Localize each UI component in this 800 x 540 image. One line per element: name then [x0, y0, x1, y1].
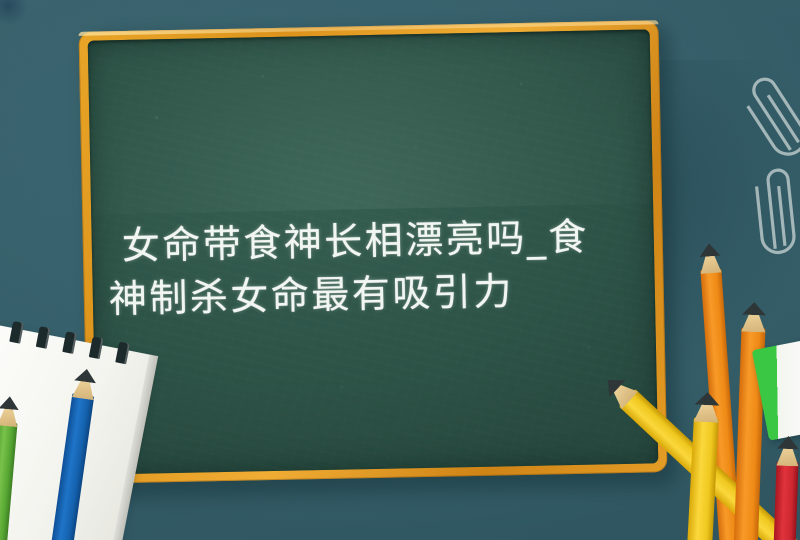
- spiral-ring: [62, 331, 77, 354]
- pencil-lead: [742, 302, 766, 316]
- spiral-ring: [115, 342, 130, 365]
- pencil-lead: [699, 243, 721, 257]
- red-pencil: [773, 436, 800, 540]
- chalk-line-2: 神制杀女命最有吸引力: [108, 263, 643, 327]
- chalkboard-title: 女命带食神长相漂亮吗_食神制杀女命最有吸引力: [121, 210, 643, 326]
- chalk-line-1: 女命带食神长相漂亮吗_食: [121, 215, 589, 268]
- spiral-ring: [89, 336, 104, 359]
- spiral-ring: [9, 321, 24, 344]
- pencil-lead: [777, 436, 799, 450]
- pencil-lead: [74, 367, 98, 383]
- scene-root: 女命带食神长相漂亮吗_食神制杀女命最有吸引力: [0, 0, 800, 540]
- chalkboard: 女命带食神长相漂亮吗_食神制杀女命最有吸引力: [79, 20, 668, 484]
- chalkboard-surface: 女命带食神长相漂亮吗_食神制杀女命最有吸引力: [88, 29, 659, 474]
- spiral-ring: [36, 326, 51, 349]
- pencil-body: [773, 462, 799, 540]
- pencil-lead: [695, 391, 721, 405]
- pencil-lead: [0, 395, 20, 410]
- chalkboard-frame: 女命带食神长相漂亮吗_食神制杀女命最有吸引力: [79, 20, 668, 484]
